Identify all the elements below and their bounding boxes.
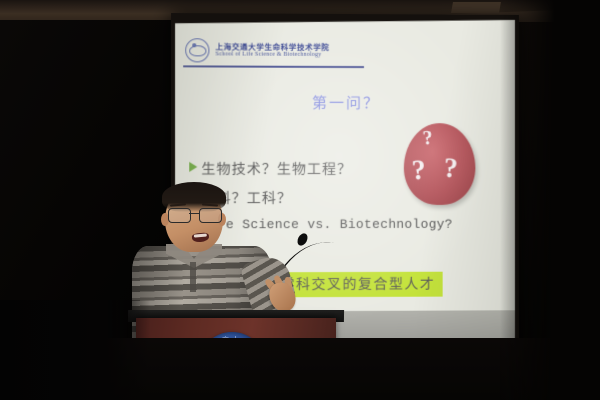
lens bbox=[168, 208, 191, 223]
glasses-bridge bbox=[189, 213, 199, 214]
institution-name-en: School of Life Science & Biotechnology bbox=[215, 51, 329, 58]
arrow-bullet-icon bbox=[189, 162, 197, 172]
shirt-placket bbox=[190, 262, 196, 292]
header-divider bbox=[183, 65, 364, 67]
glasses-icon bbox=[168, 208, 222, 221]
institution-name: 上海交通大学生命科学技术学院 School of Life Science & … bbox=[215, 43, 329, 58]
bullet-text: 生物技术？生物工程？ bbox=[201, 159, 352, 179]
list-item: 生物技术？生物工程？ bbox=[189, 159, 509, 179]
sjtu-seal-icon bbox=[185, 38, 209, 62]
question-mark-icon: ? bbox=[422, 128, 434, 149]
slide-title: 第一问？ bbox=[175, 91, 515, 113]
foreground-shadow-left bbox=[0, 300, 150, 400]
ceiling-vent bbox=[451, 2, 501, 13]
foreground-shadow-right bbox=[500, 0, 600, 400]
lens bbox=[199, 208, 222, 223]
slide-header: 上海交通大学生命科学技术学院 School of Life Science & … bbox=[185, 38, 329, 63]
photo-scene: 上海交通大学生命科学技术学院 School of Life Science & … bbox=[0, 0, 600, 400]
